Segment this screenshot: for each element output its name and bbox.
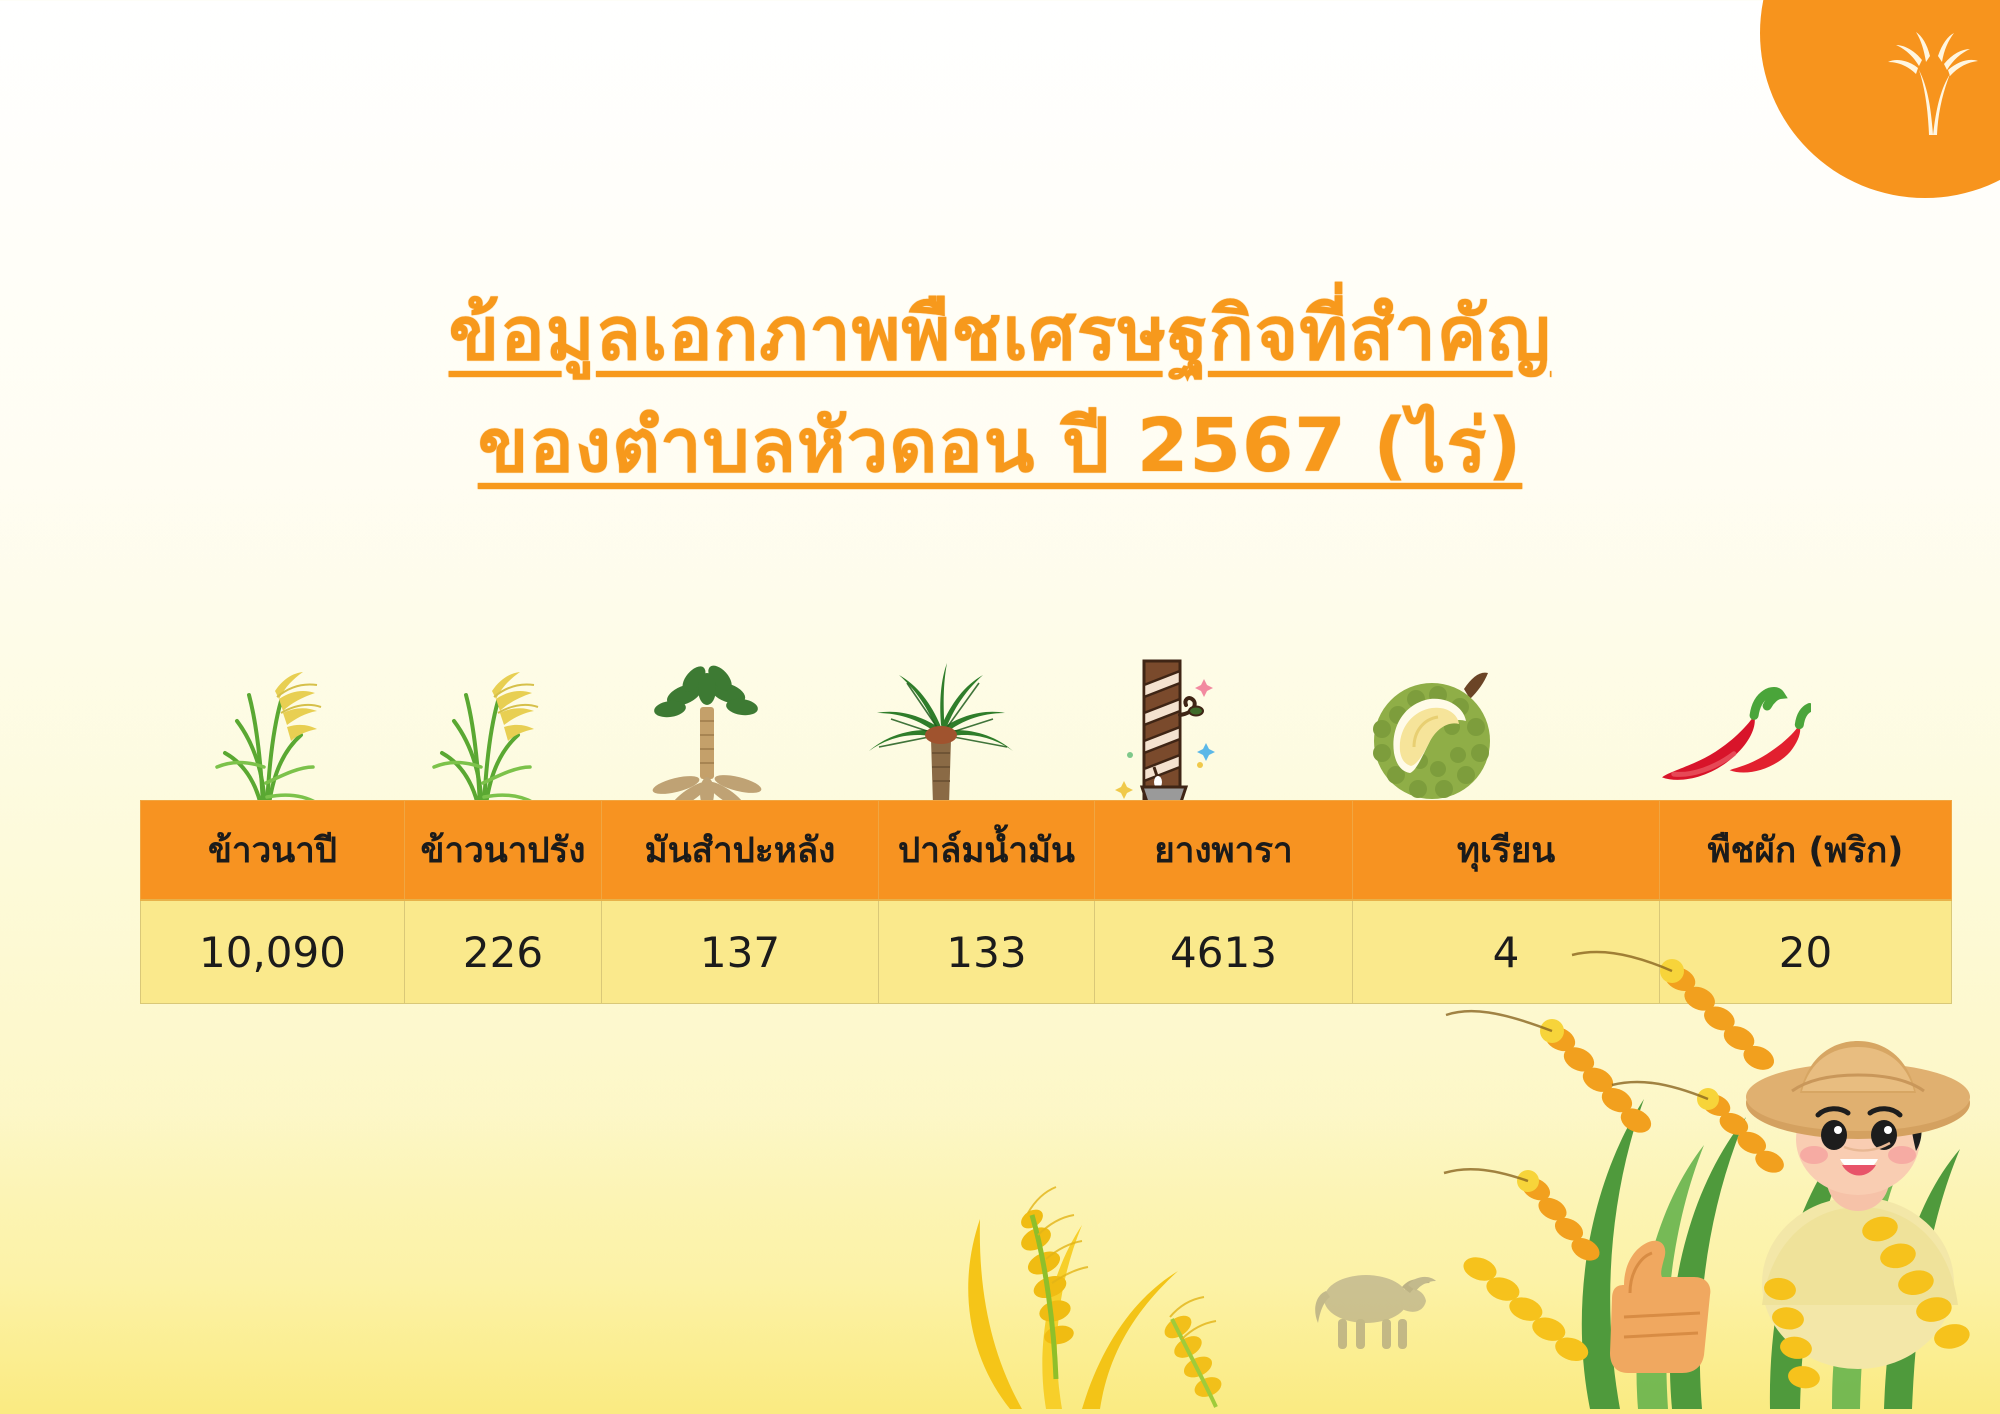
golden-rice-stalks-illustration: [860, 1179, 1380, 1414]
oil-palm-tree-icon: [861, 655, 1021, 805]
col-header-rubber: ยางพารา: [1095, 801, 1353, 901]
title-line-1: ข้อมูลเอกภาพพืชเศรษฐกิจที่สำคัญ: [449, 278, 1552, 390]
golden-field-gradient: [0, 1114, 2000, 1414]
cell-value-oil-palm: 133: [879, 900, 1095, 1004]
crop-data-table: ข้าวนาปี ข้าวนาปรัง มันสำปะหลัง ปาล์มน้ำ…: [140, 800, 1952, 1004]
rice-plant-icon: [408, 655, 558, 805]
table-row: 10,090 226 137 133 4613 4 20: [141, 900, 1952, 1004]
cell-value-chili: 20: [1660, 900, 1952, 1004]
cell-value-durian: 4: [1353, 900, 1660, 1004]
col-header-oil-palm: ปาล์มน้ำมัน: [879, 801, 1095, 901]
rice-plant-icon: [191, 655, 341, 805]
water-buffalo-illustration: [1290, 1247, 1440, 1362]
icon-cell-rubber: [1042, 650, 1287, 805]
col-header-rice-nap: ข้าวนาปี: [141, 801, 405, 901]
col-header-rice-naprang: ข้าวนาปรัง: [405, 801, 602, 901]
cassava-plant-icon: [632, 665, 782, 805]
chili-pepper-icon: [1631, 685, 1811, 805]
icon-cell-durian: [1287, 650, 1581, 805]
col-header-chili: พืชผัก (พริก): [1660, 801, 1952, 901]
icon-cell-rice-naprang: [391, 650, 575, 805]
table-header-row: ข้าวนาปี ข้าวนาปรัง มันสำปะหลัง ปาล์มน้ำ…: [141, 801, 1952, 901]
icon-cell-chili: [1581, 650, 1860, 805]
brand-logo-badge: [1760, 0, 2000, 198]
slide-title: ข้อมูลเอกภาพพืชเศรษฐกิจที่สำคัญ ของตำบลห…: [0, 278, 2000, 503]
col-header-durian: ทุเรียน: [1353, 801, 1660, 901]
col-header-cassava: มันสำปะหลัง: [602, 801, 879, 901]
rubber-tree-tapping-icon: [1100, 655, 1230, 805]
title-line-2: ของตำบลหัวดอน ปี 2567 (ไร่): [478, 390, 1522, 502]
icon-cell-cassava: [575, 650, 839, 805]
durian-fruit-icon: [1354, 655, 1514, 805]
rice-plant-logo-icon: [1878, 30, 1988, 140]
icon-cell-oil-palm: [839, 650, 1042, 805]
cell-value-rubber: 4613: [1095, 900, 1353, 1004]
cell-value-cassava: 137: [602, 900, 879, 1004]
cell-value-rice-naprang: 226: [405, 900, 602, 1004]
icon-cell-rice-nap: [140, 650, 391, 805]
crop-icon-strip: [140, 650, 1860, 805]
cell-value-rice-nap: 10,090: [141, 900, 405, 1004]
